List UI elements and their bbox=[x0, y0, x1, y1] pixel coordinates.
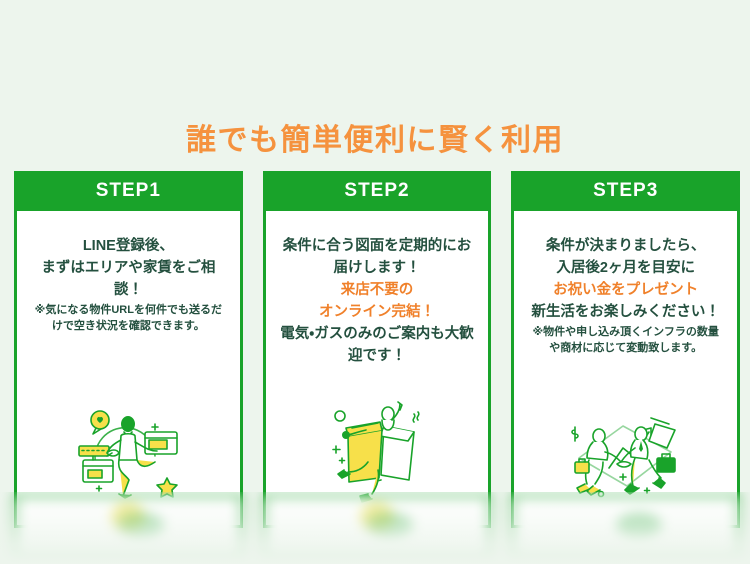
step-card-step2: STEP2 条件に合う図面を定期的にお届けします！ 来店不要の オンライン完結！… bbox=[263, 171, 492, 528]
step-card-body-step3: 条件が決まりましたら、 入居後2ヶ月を目安に お祝い金をプレゼント 新生活をお楽… bbox=[514, 211, 737, 525]
step-card-step1: STEP1 LINE登録後、 まずはエリアや家賃をご相談！ ※気になる物件URL… bbox=[14, 171, 243, 528]
step-line: 条件が決まりましたら、 bbox=[524, 235, 727, 257]
step-line-highlight: オンライン完結！ bbox=[276, 301, 479, 323]
step-card-step3: STEP3 条件が決まりましたら、 入居後2ヶ月を目安に お祝い金をプレゼント … bbox=[511, 171, 740, 528]
step-note-step3: ※物件や申し込み頂くインフラの数量や商材に応じて変動致します。 bbox=[528, 325, 723, 357]
step-line: 条件に合う図面を定期的にお届けします！ bbox=[276, 235, 479, 279]
step-line: 新生活をお楽しみください！ bbox=[524, 301, 727, 323]
step-line: まずはエリアや家賃をご相談！ bbox=[27, 257, 230, 301]
step-line: 電気・ガスのみのご案内も大歓迎です！ bbox=[276, 323, 479, 367]
step-card-header-step3: STEP3 bbox=[514, 174, 737, 211]
top-fade-overlay bbox=[0, 0, 750, 74]
step-text-block-step1: LINE登録後、 まずはエリアや家賃をご相談！ bbox=[27, 235, 230, 301]
step-line-highlight: お祝い金をプレゼント bbox=[524, 279, 727, 301]
step-line-highlight: 来店不要の bbox=[276, 279, 479, 301]
step-card-header-step2: STEP2 bbox=[266, 174, 489, 211]
page-title: 誰でも簡単便利に賢く利用 bbox=[0, 123, 750, 159]
step-text-block-step2: 条件に合う図面を定期的にお届けします！ 来店不要の オンライン完結！ 電気・ガス… bbox=[276, 235, 479, 367]
bottom-fade-overlay bbox=[0, 492, 750, 564]
bottom-faded-section-peek bbox=[0, 492, 750, 564]
step-line: LINE登録後、 bbox=[27, 235, 230, 257]
top-faded-headline-strip: カンタン・便利・おトクなサービス bbox=[0, 0, 750, 74]
step-line: 入居後2ヶ月を目安に bbox=[524, 257, 727, 279]
step-card-body-step2: 条件に合う図面を定期的にお届けします！ 来店不要の オンライン完結！ 電気・ガス… bbox=[266, 211, 489, 525]
step-text-block-step3: 条件が決まりましたら、 入居後2ヶ月を目安に お祝い金をプレゼント 新生活をお楽… bbox=[524, 235, 727, 323]
step-card-list: STEP1 LINE登録後、 まずはエリアや家賃をご相談！ ※気になる物件URL… bbox=[14, 171, 740, 528]
step-card-header-step1: STEP1 bbox=[17, 174, 240, 211]
step-note-step1: ※気になる物件URLを何件でも送るだけで空き状況を確認できます。 bbox=[31, 303, 226, 335]
step-card-body-step1: LINE登録後、 まずはエリアや家賃をご相談！ ※気になる物件URLを何件でも送… bbox=[17, 211, 240, 525]
